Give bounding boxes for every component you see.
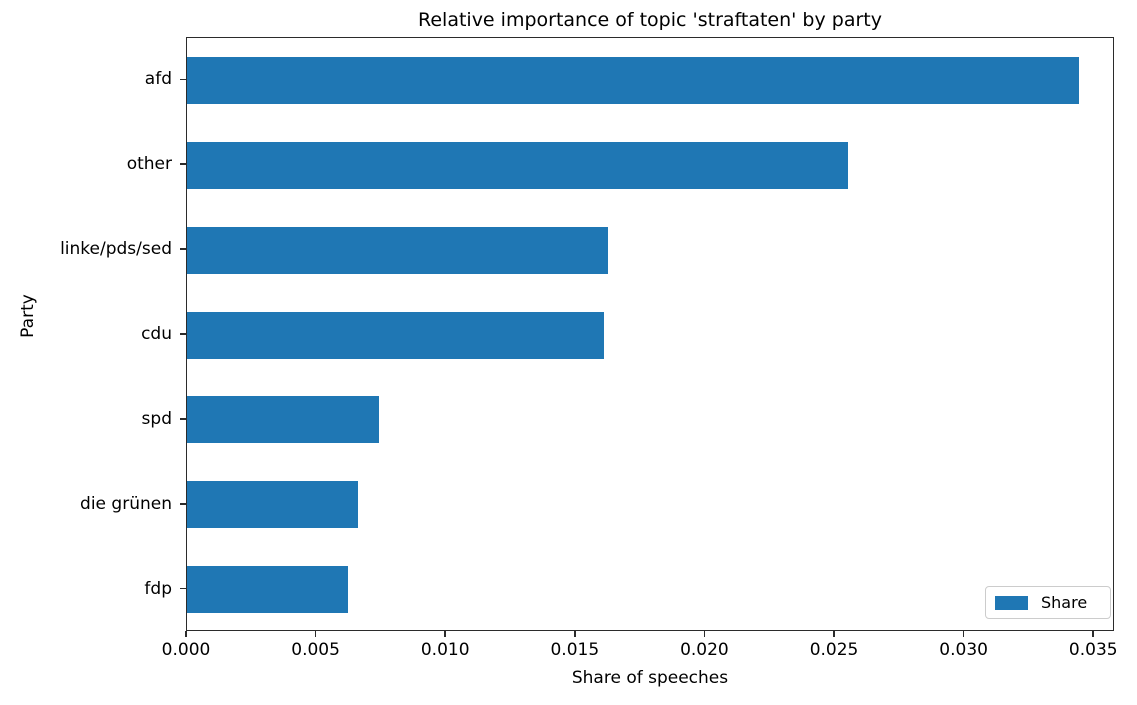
x-tick-label-0.015: 0.015 [520, 640, 630, 660]
y-tick-mark [180, 163, 186, 165]
y-tick-label-other: other [0, 154, 172, 174]
x-tick-mark [833, 631, 835, 637]
x-tick-label-0.025: 0.025 [779, 640, 889, 660]
plot-area [187, 38, 1113, 630]
x-tick-mark [185, 631, 187, 637]
y-tick-mark [180, 333, 186, 335]
y-tick-mark [180, 588, 186, 590]
x-tick-mark [444, 631, 446, 637]
x-tick-mark [704, 631, 706, 637]
bar-cdu[interactable] [187, 312, 604, 359]
x-tick-label-0.035: 0.035 [1038, 640, 1137, 660]
x-tick-label-0.020: 0.020 [649, 640, 759, 660]
y-tick-label-die-gr-nen: die grünen [0, 494, 172, 514]
chart-legend[interactable]: Share [985, 586, 1111, 619]
x-tick-mark [1092, 631, 1094, 637]
bar-linke-pds-sed[interactable] [187, 227, 608, 274]
plot-axes [186, 37, 1114, 631]
y-tick-mark [180, 248, 186, 250]
bar-spd[interactable] [187, 396, 379, 443]
y-tick-mark [180, 79, 186, 81]
legend-label-share: Share [1041, 593, 1087, 612]
bar-other[interactable] [187, 142, 848, 189]
chart-figure: Relative importance of topic 'straftaten… [0, 0, 1137, 705]
x-tick-label-0.005: 0.005 [261, 640, 371, 660]
x-tick-label-0.000: 0.000 [131, 640, 241, 660]
y-tick-label-linke-pds-sed: linke/pds/sed [0, 239, 172, 259]
bar-fdp[interactable] [187, 566, 348, 613]
y-tick-label-afd: afd [0, 69, 172, 89]
legend-swatch-share [995, 596, 1028, 610]
y-tick-label-cdu: cdu [0, 324, 172, 344]
bar-afd[interactable] [187, 57, 1079, 104]
y-tick-mark [180, 503, 186, 505]
y-tick-label-fdp: fdp [0, 579, 172, 599]
x-axis-label: Share of speeches [186, 668, 1114, 688]
x-tick-mark [315, 631, 317, 637]
x-tick-label-0.010: 0.010 [390, 640, 500, 660]
x-tick-mark [963, 631, 965, 637]
y-tick-mark [180, 418, 186, 420]
bar-die-gr-nen[interactable] [187, 481, 358, 528]
y-tick-label-spd: spd [0, 409, 172, 429]
chart-title: Relative importance of topic 'straftaten… [186, 9, 1114, 31]
y-axis-label: Party [18, 256, 38, 376]
x-tick-mark [574, 631, 576, 637]
x-tick-label-0.030: 0.030 [909, 640, 1019, 660]
